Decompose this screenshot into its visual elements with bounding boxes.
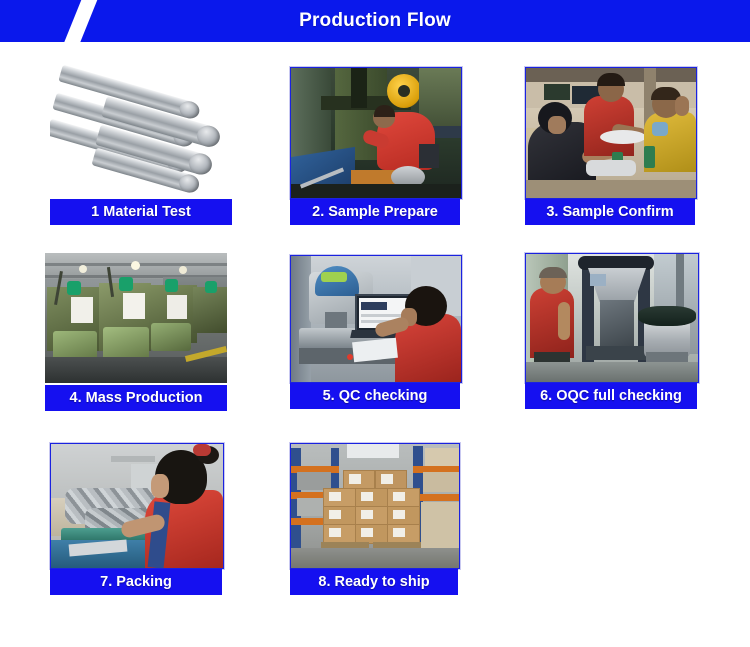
page-header: Production Flow <box>0 0 750 42</box>
step-4-photo <box>45 253 227 383</box>
flow-row: 4. Mass Production <box>0 249 750 437</box>
step-7-photo <box>50 443 224 569</box>
step-1-label: 1 Material Test <box>50 199 232 225</box>
step-1-photo <box>50 61 232 199</box>
production-flow-grid: 1 Material Test <box>0 46 750 625</box>
step-4-label: 4. Mass Production <box>45 385 227 411</box>
flow-row-spacer <box>500 437 750 625</box>
step-5-label: 5. QC checking <box>290 383 460 409</box>
flow-step-7[interactable]: 7. Packing <box>0 437 250 625</box>
flow-step-6[interactable]: 6. OQC full checking <box>500 249 750 437</box>
step-2-label: 2. Sample Prepare <box>290 199 460 225</box>
step-6-photo <box>525 253 699 383</box>
flow-step-5[interactable]: 5. QC checking <box>250 249 500 437</box>
flow-row: 7. Packing <box>0 437 750 625</box>
step-3-label: 3. Sample Confirm <box>525 199 695 225</box>
flow-step-2[interactable]: 2. Sample Prepare <box>250 61 500 249</box>
flow-step-1[interactable]: 1 Material Test <box>0 61 250 249</box>
page-title: Production Flow <box>0 0 750 42</box>
step-7-label: 7. Packing <box>50 569 222 595</box>
step-8-label: 8. Ready to ship <box>290 569 458 595</box>
step-5-photo <box>290 255 462 383</box>
step-8-photo <box>290 443 460 569</box>
flow-row: 1 Material Test <box>0 61 750 249</box>
flow-step-3[interactable]: 3. Sample Confirm <box>500 61 750 249</box>
step-3-photo <box>525 67 697 199</box>
step-2-photo <box>290 67 462 199</box>
step-6-label: 6. OQC full checking <box>525 383 697 409</box>
flow-step-8[interactable]: 8. Ready to ship <box>250 437 500 625</box>
flow-step-4[interactable]: 4. Mass Production <box>0 249 250 437</box>
